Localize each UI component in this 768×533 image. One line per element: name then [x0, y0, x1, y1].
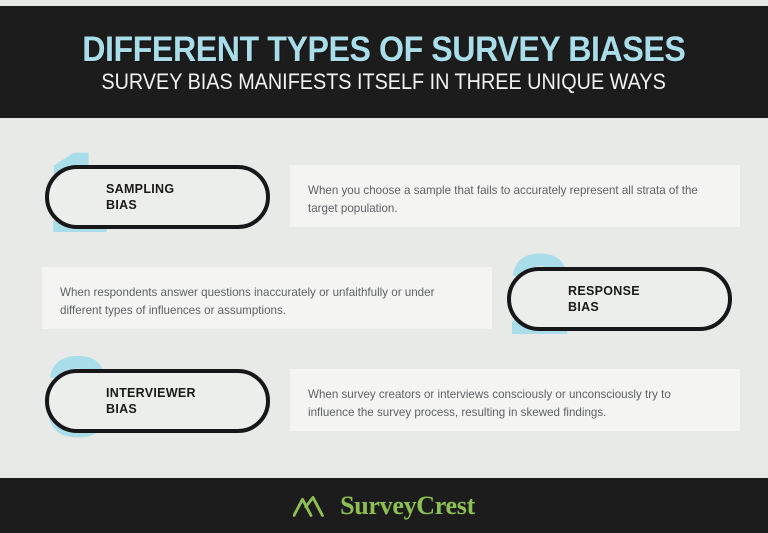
bias-description-text-1: When you choose a sample that fails to a… — [308, 182, 718, 218]
bias-pill-3[interactable]: 3 INTERVIEWER BIAS — [42, 355, 272, 455]
bias-description-box-1: When you choose a sample that fails to a… — [290, 165, 740, 227]
page-title: DIFFERENT TYPES OF SURVEY BIASES — [82, 32, 685, 67]
content-area: 1 SAMPLING BIAS When you choose a sample… — [0, 118, 768, 478]
bias-pill-shape-1[interactable]: SAMPLING BIAS — [45, 165, 270, 229]
footer-band: SurveyCrest — [0, 478, 768, 533]
bias-description-box-2: When respondents answer questions inaccu… — [42, 267, 492, 329]
bias-pill-shape-3[interactable]: INTERVIEWER BIAS — [45, 369, 270, 433]
bias-pill-label-2: RESPONSE BIAS — [568, 283, 640, 315]
bias-pill-1[interactable]: 1 SAMPLING BIAS — [42, 151, 272, 251]
bias-row-1: 1 SAMPLING BIAS When you choose a sample… — [0, 151, 768, 251]
bias-row-2: When respondents answer questions inaccu… — [0, 253, 768, 353]
brand-logo[interactable]: SurveyCrest — [293, 493, 475, 519]
mountain-peaks-icon — [293, 494, 331, 518]
bias-pill-label-3: INTERVIEWER BIAS — [106, 385, 196, 417]
bias-pill-2[interactable]: 2 RESPONSE BIAS — [504, 253, 734, 353]
bias-description-text-3: When survey creators or interviews consc… — [308, 386, 718, 422]
bias-row-3: 3 INTERVIEWER BIAS When survey creators … — [0, 355, 768, 455]
brand-name: SurveyCrest — [340, 493, 475, 519]
bias-description-text-2: When respondents answer questions inaccu… — [60, 284, 470, 320]
bias-description-box-3: When survey creators or interviews consc… — [290, 369, 740, 431]
bias-pill-shape-2[interactable]: RESPONSE BIAS — [507, 267, 732, 331]
page-subtitle: SURVEY BIAS MANIFESTS ITSELF IN THREE UN… — [102, 71, 666, 93]
header-band: DIFFERENT TYPES OF SURVEY BIASES SURVEY … — [0, 6, 768, 118]
infographic-page: DIFFERENT TYPES OF SURVEY BIASES SURVEY … — [0, 0, 768, 533]
bias-pill-label-1: SAMPLING BIAS — [106, 181, 174, 213]
